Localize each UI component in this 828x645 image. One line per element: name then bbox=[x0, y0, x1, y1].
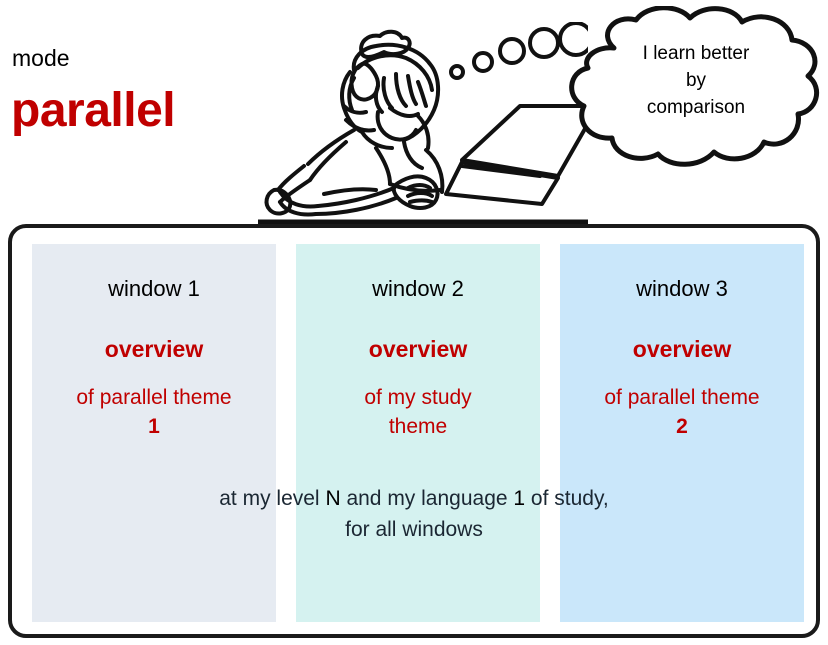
window-panel-3[interactable]: window 3 overview of parallel theme 2 bbox=[560, 244, 804, 622]
window-panel-1-sub-number: 1 bbox=[148, 415, 160, 438]
window-panel-1[interactable]: window 1 overview of parallel theme 1 bbox=[32, 244, 276, 622]
window-panel-2[interactable]: window 2 overview of my study theme bbox=[296, 244, 540, 622]
window-panel-1-overview-label: overview bbox=[32, 336, 276, 363]
panels-row: window 1 overview of parallel theme 1 wi… bbox=[32, 244, 804, 622]
window-panel-2-sub-number: theme bbox=[389, 415, 447, 438]
mode-value-parallel: parallel bbox=[11, 83, 175, 139]
window-panel-3-sub-prefix: of parallel theme bbox=[604, 386, 759, 409]
thought-bubble-line-3: comparison bbox=[606, 94, 786, 121]
thought-bubble-line-2: by bbox=[606, 67, 786, 94]
window-panel-3-sub-number: 2 bbox=[676, 415, 688, 438]
window-panel-2-title: window 2 bbox=[296, 276, 540, 302]
thought-bubble-line-1: I learn better bbox=[606, 40, 786, 67]
window-panel-1-subtitle: of parallel theme 1 bbox=[32, 383, 276, 441]
window-panel-3-subtitle: of parallel theme 2 bbox=[560, 383, 804, 441]
window-panel-2-subtitle: of my study theme bbox=[296, 383, 540, 441]
window-panel-3-title: window 3 bbox=[560, 276, 804, 302]
windows-container: window 1 overview of parallel theme 1 wi… bbox=[8, 224, 820, 638]
window-panel-1-sub-prefix: of parallel theme bbox=[76, 386, 231, 409]
window-panel-3-overview-label: overview bbox=[560, 336, 804, 363]
mode-label: mode bbox=[12, 44, 70, 72]
window-panel-2-overview-label: overview bbox=[296, 336, 540, 363]
window-panel-1-title: window 1 bbox=[32, 276, 276, 302]
thought-bubble-text: I learn better by comparison bbox=[606, 40, 786, 121]
window-panel-2-sub-prefix: of my study bbox=[364, 386, 471, 409]
